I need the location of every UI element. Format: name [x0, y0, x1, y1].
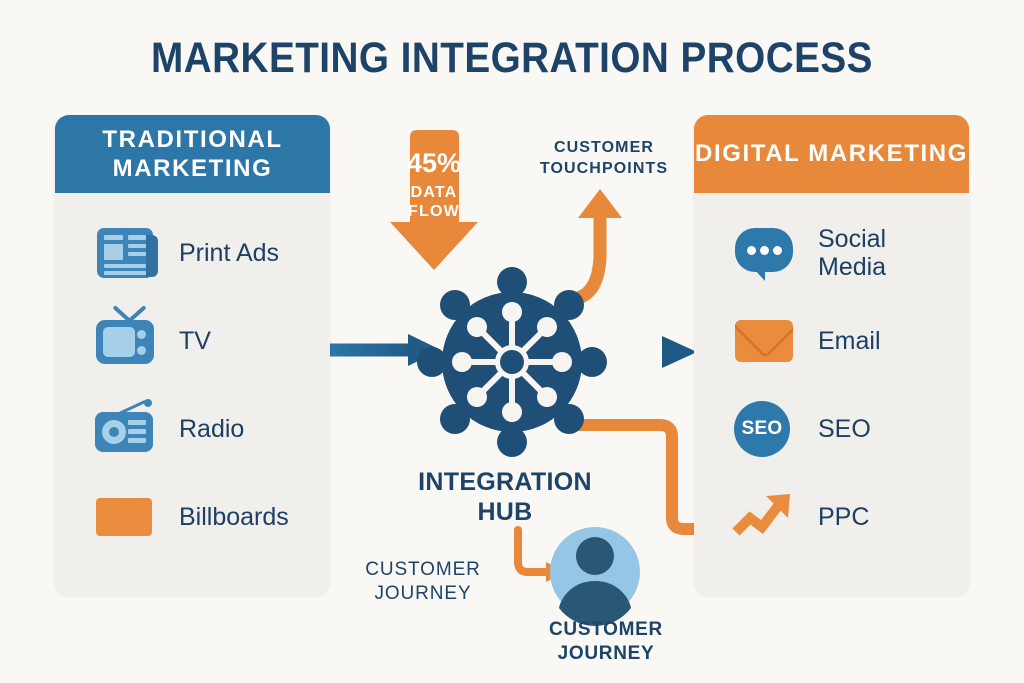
speech-bubble-icon: [732, 222, 798, 284]
list-item-label: Radio: [179, 415, 244, 443]
customer-touchpoints-label: CUSTOMER TOUCHPOINTS: [514, 138, 694, 180]
digital-marketing-list: Social Media Email SEO SEO: [694, 193, 969, 561]
list-item-tv[interactable]: TV: [55, 297, 330, 385]
list-item-label: Print Ads: [179, 239, 279, 267]
list-item-label: TV: [179, 327, 211, 355]
customer-journey-side-label: CUSTOMER JOURNEY: [348, 558, 498, 607]
television-icon: [93, 310, 159, 372]
traditional-marketing-header: TRADITIONAL MARKETING: [55, 115, 330, 193]
customer-journey-avatar-label: CUSTOMER JOURNEY: [508, 618, 704, 667]
data-flow-sublabel: DATA FLOW: [398, 184, 470, 222]
traditional-marketing-panel: TRADITIONAL MARKETING Print Ads: [55, 115, 330, 595]
list-item-print-ads[interactable]: Print Ads: [55, 209, 330, 297]
trend-arrow-up-icon: [732, 486, 798, 548]
list-item-billboards[interactable]: Billboards: [55, 473, 330, 561]
infographic-canvas: MARKETING INTEGRATION PROCESS: [0, 0, 1024, 683]
list-item-radio[interactable]: Radio: [55, 385, 330, 473]
hub-to-digital-connector: [585, 336, 697, 368]
user-avatar-icon: [550, 527, 640, 626]
page-title: MARKETING INTEGRATION PROCESS: [51, 34, 973, 83]
list-item-label: Email: [818, 327, 881, 355]
digital-marketing-panel: DIGITAL MARKETING Social Media Emai: [694, 115, 969, 595]
digital-marketing-header: DIGITAL MARKETING: [694, 115, 969, 193]
touchpoints-connector: [578, 189, 622, 298]
trend-arrow-up-glyph: [732, 488, 798, 546]
list-item-label: Social Media: [818, 225, 886, 281]
list-item-label: Billboards: [179, 503, 289, 531]
list-item-seo[interactable]: SEO SEO: [694, 385, 969, 473]
seo-badge-text: SEO: [734, 401, 790, 457]
envelope-icon: [732, 310, 798, 372]
customer-journey-connector: [518, 530, 566, 582]
list-item-social-media[interactable]: Social Media: [694, 209, 969, 297]
newspaper-icon: [93, 222, 159, 284]
billboard-icon: [93, 486, 159, 548]
list-item-email[interactable]: Email: [694, 297, 969, 385]
traditional-marketing-list: Print Ads TV: [55, 193, 330, 561]
seo-badge-icon: SEO: [732, 398, 798, 460]
network-hub-icon: [417, 267, 607, 457]
list-item-label: SEO: [818, 415, 871, 443]
integration-hub-label: INTEGRATION HUB: [390, 468, 620, 527]
radio-icon: [93, 398, 159, 460]
list-item-label: PPC: [818, 503, 869, 531]
data-flow-percent: 45%: [398, 148, 470, 179]
list-item-ppc[interactable]: PPC: [694, 473, 969, 561]
